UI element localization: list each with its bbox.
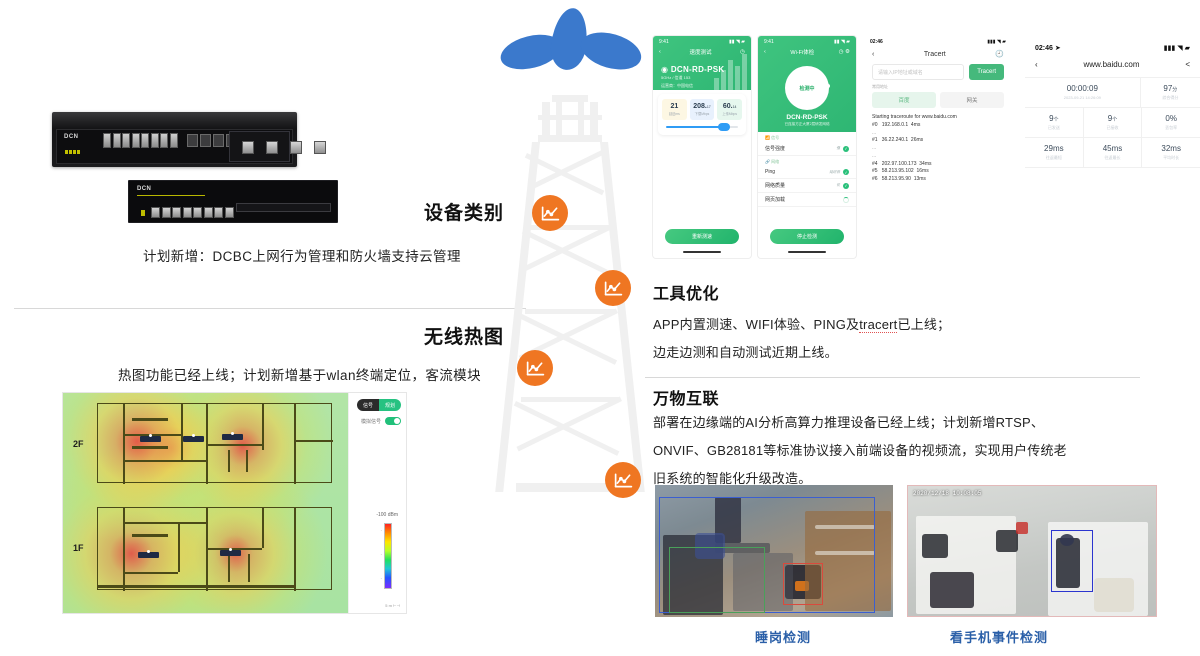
- petal-logo: [480, 8, 660, 88]
- speed-metrics-card: 21 延迟ms 208.17 下载Mbps 60.14 上传Mbps: [658, 94, 746, 135]
- speed-tiles: 21 延迟ms 208.17 下载Mbps 60.14 上传Mbps: [662, 99, 742, 120]
- iot-line-2: ONVIF、GB28181等标准协议接入前端设备的视频流，实现用户传统老: [653, 438, 1067, 464]
- status-time: 02:46 ➤: [1035, 44, 1061, 52]
- metrics-grid: 00:00:09 2023-09-21 14:26:09 97分 综合得分 9个…: [1025, 77, 1200, 168]
- tracert-run-button[interactable]: Tracert: [969, 64, 1004, 80]
- section-subtitle-device-category: 计划新增：DCBC上网行为管理和防火墙支持云管理: [143, 245, 461, 265]
- status-icons: ▮▮▮ ◥ ▰: [987, 39, 1006, 45]
- scan-dial: 检测中: [785, 66, 829, 110]
- ap-marker: [183, 436, 204, 442]
- check-row: Ping 延迟低✓: [758, 166, 856, 179]
- camera-image-sleep-detection: [655, 485, 893, 617]
- metrics-row: 29ms 往返最短 45ms 往返最长 32ms 平均时长: [1025, 138, 1200, 168]
- log-line: ...: [872, 153, 1004, 161]
- router-device-top: DCN: [52, 112, 297, 167]
- metric-label: 往返最短: [1027, 155, 1081, 161]
- metric-cell: 00:00:09 2023-09-21 14:26:09: [1025, 78, 1141, 107]
- back-icon[interactable]: ‹: [659, 49, 661, 55]
- left-column: DCN DCN: [0, 0, 540, 656]
- camera-snapshots: 2020/12/18 10:08:05: [655, 485, 1195, 620]
- tracert-keyword: tracert: [859, 317, 897, 333]
- tools-line-2: 边走边测和自动测试近期上线。: [653, 340, 838, 366]
- camera-timestamp: 2020/12/18 10:08:05: [913, 490, 981, 497]
- log-line: #4 202.97.100.173 34ms: [872, 161, 1004, 169]
- log-line: #1 36.22.240.1 26ms: [872, 137, 1004, 145]
- status-bar: 9:41 ▮▮ ◥ ▰: [653, 36, 751, 46]
- stop-check-button[interactable]: 停止检测: [770, 229, 844, 244]
- group-label-signal: 📶 信号: [758, 132, 856, 142]
- metric-label: 上传Mbps: [718, 111, 741, 116]
- check-result: 强✓: [836, 146, 849, 152]
- metric-value: 9个: [1086, 114, 1140, 123]
- metric-value: 97分: [1143, 84, 1198, 93]
- status-ok-icon: ✓: [843, 169, 849, 175]
- heatmap-mode-segment[interactable]: 信号 规划: [357, 399, 401, 411]
- floorplan-1f: [97, 507, 332, 590]
- tracert-log: Starting traceroute for www.baidu.com #0…: [864, 108, 1012, 184]
- status-time: 9:41: [659, 39, 669, 45]
- metric-cell: 29ms 往返最短: [1025, 138, 1084, 167]
- status-bar: 02:46 ➤ ▮▮▮ ◥ ▰: [1025, 36, 1200, 54]
- section-title-tools: 工具优化: [653, 280, 719, 304]
- metric-label: 已接收: [1086, 125, 1140, 131]
- metrics-row: 9个 已发送 9个 已接收 0% 丢包率: [1025, 108, 1200, 138]
- metric-tile: 208.17 下载Mbps: [690, 99, 715, 120]
- ssid-meta-2: 运营商：中国电信: [653, 82, 751, 90]
- chart-trend-icon: [532, 195, 568, 231]
- device-brand-label: DCN: [64, 134, 79, 140]
- log-line: #5 58.213.95.102 16ms: [872, 168, 1004, 176]
- log-line: #6 58.213.95.90 13ms: [872, 176, 1004, 184]
- metric-tile: 60.14 上传Mbps: [717, 99, 742, 120]
- status-ok-icon: ✓: [843, 183, 849, 189]
- metric-cell: 97分 综合得分: [1141, 78, 1200, 107]
- speed-slider[interactable]: [666, 126, 738, 128]
- wifi-check-header: 9:41 ▮▮ ◥ ▰ ‹ Wi-Fi体检 ◷ ⚙ 检测中 DCN-RD-PSK…: [758, 36, 856, 132]
- floor-label-1f: 1F: [73, 543, 84, 553]
- check-result: 优✓: [836, 183, 849, 189]
- router-device-bottom: DCN: [128, 180, 338, 223]
- section-subtitle-wireless-heatmap: 热图功能已经上线；计划新增基于wlan终端定位，客流模块: [118, 364, 481, 384]
- metric-value: 9个: [1027, 114, 1081, 123]
- expansion-module: [229, 131, 290, 162]
- page-title: www.baidu.com: [1083, 60, 1139, 69]
- signal-color-scale: [384, 523, 392, 589]
- metric-label: 综合得分: [1143, 95, 1198, 101]
- right-column: 9:41 ▮▮ ◥ ▰ ‹ 速度测试 ◷ ◉ DCN-RD-PSK 5GHz /…: [645, 0, 1200, 656]
- scale-max-label: -100 dBm: [376, 512, 398, 518]
- ap-marker: [222, 434, 243, 440]
- check-row: 网页加载: [758, 193, 856, 207]
- loading-spinner-icon: [843, 197, 849, 203]
- metric-label: 平均时长: [1144, 155, 1198, 161]
- camera-image-phone-detection: 2020/12/18 10:08:05: [907, 485, 1157, 617]
- floor-label-2f: 2F: [73, 439, 84, 449]
- baidu-nav: ‹ www.baidu.com <: [1025, 54, 1200, 77]
- common-address-tabs: 百度 网关: [864, 92, 1012, 108]
- wifi-heatmap-image: 2F 1F: [62, 392, 407, 614]
- check-name: Ping: [765, 169, 775, 175]
- metric-label: 下载Mbps: [691, 111, 714, 116]
- slide-canvas: DCN DCN: [0, 0, 1200, 656]
- address-input[interactable]: 请输入IP地址或域名: [872, 64, 964, 80]
- metric-value: 29ms: [1027, 144, 1081, 153]
- dial-text: 检测中: [799, 85, 814, 92]
- log-header: Starting traceroute for www.baidu.com: [872, 114, 1004, 122]
- log-line: ...: [872, 130, 1004, 138]
- segment-plan[interactable]: 规划: [379, 399, 401, 411]
- metric-tile: 21 延迟ms: [662, 99, 687, 120]
- nav-title: 速度测试: [690, 48, 712, 56]
- status-ok-icon: ✓: [843, 146, 849, 152]
- metric-label: 往返最长: [1086, 155, 1140, 161]
- tab-baidu[interactable]: 百度: [872, 92, 936, 108]
- device-brand-label-2: DCN: [137, 186, 151, 192]
- segment-signal[interactable]: 信号: [357, 399, 379, 411]
- back-icon[interactable]: ‹: [764, 49, 766, 55]
- tracert-input-row: 请输入IP地址或域名 Tracert: [864, 64, 1012, 80]
- tower-structure: [480, 95, 660, 495]
- simulate-signal-row[interactable]: 模拟信号: [361, 417, 401, 425]
- phone-screenshot-tracert: 02:46 ▮▮▮ ◥ ▰ ‹ Tracert 🕘 请输入IP地址或域名 Tra…: [864, 36, 1012, 258]
- metric-value: 32ms: [1144, 144, 1198, 153]
- device-photos: DCN DCN: [30, 100, 410, 225]
- ssid-meta: 已连接方正大厦2层研发网络: [758, 121, 856, 132]
- scale-ruler: 5 m ⊢⊣: [385, 603, 400, 608]
- ethernet-ports-2: [151, 207, 234, 218]
- metric-cell: 45ms 往返最长: [1084, 138, 1143, 167]
- tools-line-1: APP内置测速、WIFI体验、PING及tracert已上线；: [653, 312, 950, 338]
- share-icon[interactable]: <: [1185, 60, 1190, 69]
- check-result: [843, 197, 849, 203]
- caption-phone-detection: 看手机事件检测: [950, 627, 1048, 646]
- phone-screenshot-speedtest: 9:41 ▮▮ ◥ ▰ ‹ 速度测试 ◷ ◉ DCN-RD-PSK 5GHz /…: [653, 36, 751, 258]
- chart-trend-icon: [605, 462, 641, 498]
- metrics-row: 00:00:09 2023-09-21 14:26:09 97分 综合得分: [1025, 78, 1200, 108]
- metric-label: 延迟ms: [663, 111, 686, 116]
- tower-illustration: [480, 0, 660, 540]
- section-title-iot: 万物互联: [653, 385, 719, 409]
- home-indicator: [683, 251, 721, 253]
- ap-marker: [138, 552, 159, 558]
- metric-value: 00:00:09: [1027, 84, 1138, 93]
- back-icon[interactable]: ‹: [1035, 60, 1038, 69]
- check-name: 信号强度: [765, 145, 785, 152]
- rear-slot: [236, 203, 331, 212]
- chart-trend-icon: [595, 270, 631, 306]
- nav-bar: ‹ Wi-Fi体检 ◷ ⚙: [758, 46, 856, 60]
- ssid-label: DCN-RD-PSK: [758, 113, 856, 121]
- back-icon[interactable]: ‹: [872, 51, 874, 58]
- nav-title: Tracert: [924, 51, 946, 58]
- status-time: 02:46: [870, 39, 883, 45]
- heatmap-side-panel: 信号 规划 模拟信号 -100 dBm --- 5 m ⊢⊣: [348, 393, 406, 613]
- device-leds: [65, 150, 80, 154]
- metric-cell: 9个 已发送: [1025, 108, 1084, 137]
- group-label-network: 🔗 网络: [758, 156, 856, 166]
- metric-label: 已发送: [1027, 125, 1081, 131]
- metric-label: 丢包率: [1144, 125, 1198, 131]
- metric-value: 21: [663, 103, 686, 110]
- chart-trend-icon: [517, 350, 553, 386]
- check-row: 网络质量 优✓: [758, 179, 856, 193]
- home-indicator: [788, 251, 826, 253]
- status-icons: ▮▮▮ ◥ ▰: [1164, 44, 1190, 52]
- status-icons: ▮▮ ◥ ▰: [729, 39, 745, 45]
- iot-line-1: 部署在边缘端的AI分析高算力推理设备已经上线；计划新增RTSP、: [653, 410, 1044, 436]
- metric-cell: 0% 丢包率: [1142, 108, 1200, 137]
- phone-screenshot-baidu-result: 02:46 ➤ ▮▮▮ ◥ ▰ ‹ www.baidu.com < 00:00:…: [1025, 36, 1200, 236]
- ap-marker: [140, 436, 161, 442]
- section-divider-2: [645, 377, 1140, 378]
- status-time: 9:41: [764, 39, 774, 45]
- ap-marker: [220, 550, 241, 556]
- petal-right-icon: [577, 26, 646, 76]
- phone-screenshot-wifi-check: 9:41 ▮▮ ◥ ▰ ‹ Wi-Fi体检 ◷ ⚙ 检测中 DCN-RD-PSK…: [758, 36, 856, 258]
- log-line: ...: [872, 145, 1004, 153]
- metric-cell: 9个 已接收: [1084, 108, 1143, 137]
- status-icons: ▮▮ ◥ ▰: [834, 39, 850, 45]
- metric-label: 2023-09-21 14:26:09: [1027, 95, 1138, 100]
- metric-cell: 32ms 平均时长: [1142, 138, 1200, 167]
- floorplan-2f: [97, 403, 332, 483]
- tracert-nav: ‹ Tracert 🕘: [864, 46, 1012, 64]
- status-bar: 02:46 ▮▮▮ ◥ ▰: [864, 36, 1012, 46]
- speedtest-header: 9:41 ▮▮ ◥ ▰ ‹ 速度测试 ◷ ◉ DCN-RD-PSK 5GHz /…: [653, 36, 751, 90]
- ethernet-ports: [103, 133, 178, 148]
- tab-gateway[interactable]: 网关: [940, 92, 1004, 108]
- settings-icons[interactable]: ◷ ⚙: [839, 49, 850, 55]
- metric-value: 60.14: [718, 103, 741, 110]
- simulate-signal-label: 模拟信号: [361, 418, 381, 425]
- simulate-signal-toggle[interactable]: [385, 417, 401, 425]
- slider-knob[interactable]: [718, 123, 730, 131]
- metric-value: 208.17: [691, 103, 714, 110]
- check-result: 延迟低✓: [829, 169, 849, 175]
- retest-button[interactable]: 重新测速: [665, 229, 739, 244]
- heatmap-canvas: 2F 1F: [63, 393, 348, 613]
- metric-value: 45ms: [1086, 144, 1140, 153]
- log-line: #0 192.168.0.1 4ms: [872, 122, 1004, 130]
- common-address-label: 常用地址: [864, 80, 1012, 92]
- section-divider: [14, 308, 526, 309]
- ssid-meta-1: 5GHz / 信道 153: [653, 74, 751, 82]
- check-row: 信号强度 强✓: [758, 142, 856, 156]
- check-name: 网络质量: [765, 182, 785, 189]
- metric-value: 0%: [1144, 114, 1198, 123]
- check-name: 网页加载: [765, 196, 785, 203]
- caption-sleep-detection: 睡岗检测: [755, 627, 811, 646]
- history-icon[interactable]: 🕘: [995, 50, 1004, 58]
- status-bar: 9:41 ▮▮ ◥ ▰: [758, 36, 856, 46]
- nav-title: Wi-Fi体检: [790, 48, 814, 56]
